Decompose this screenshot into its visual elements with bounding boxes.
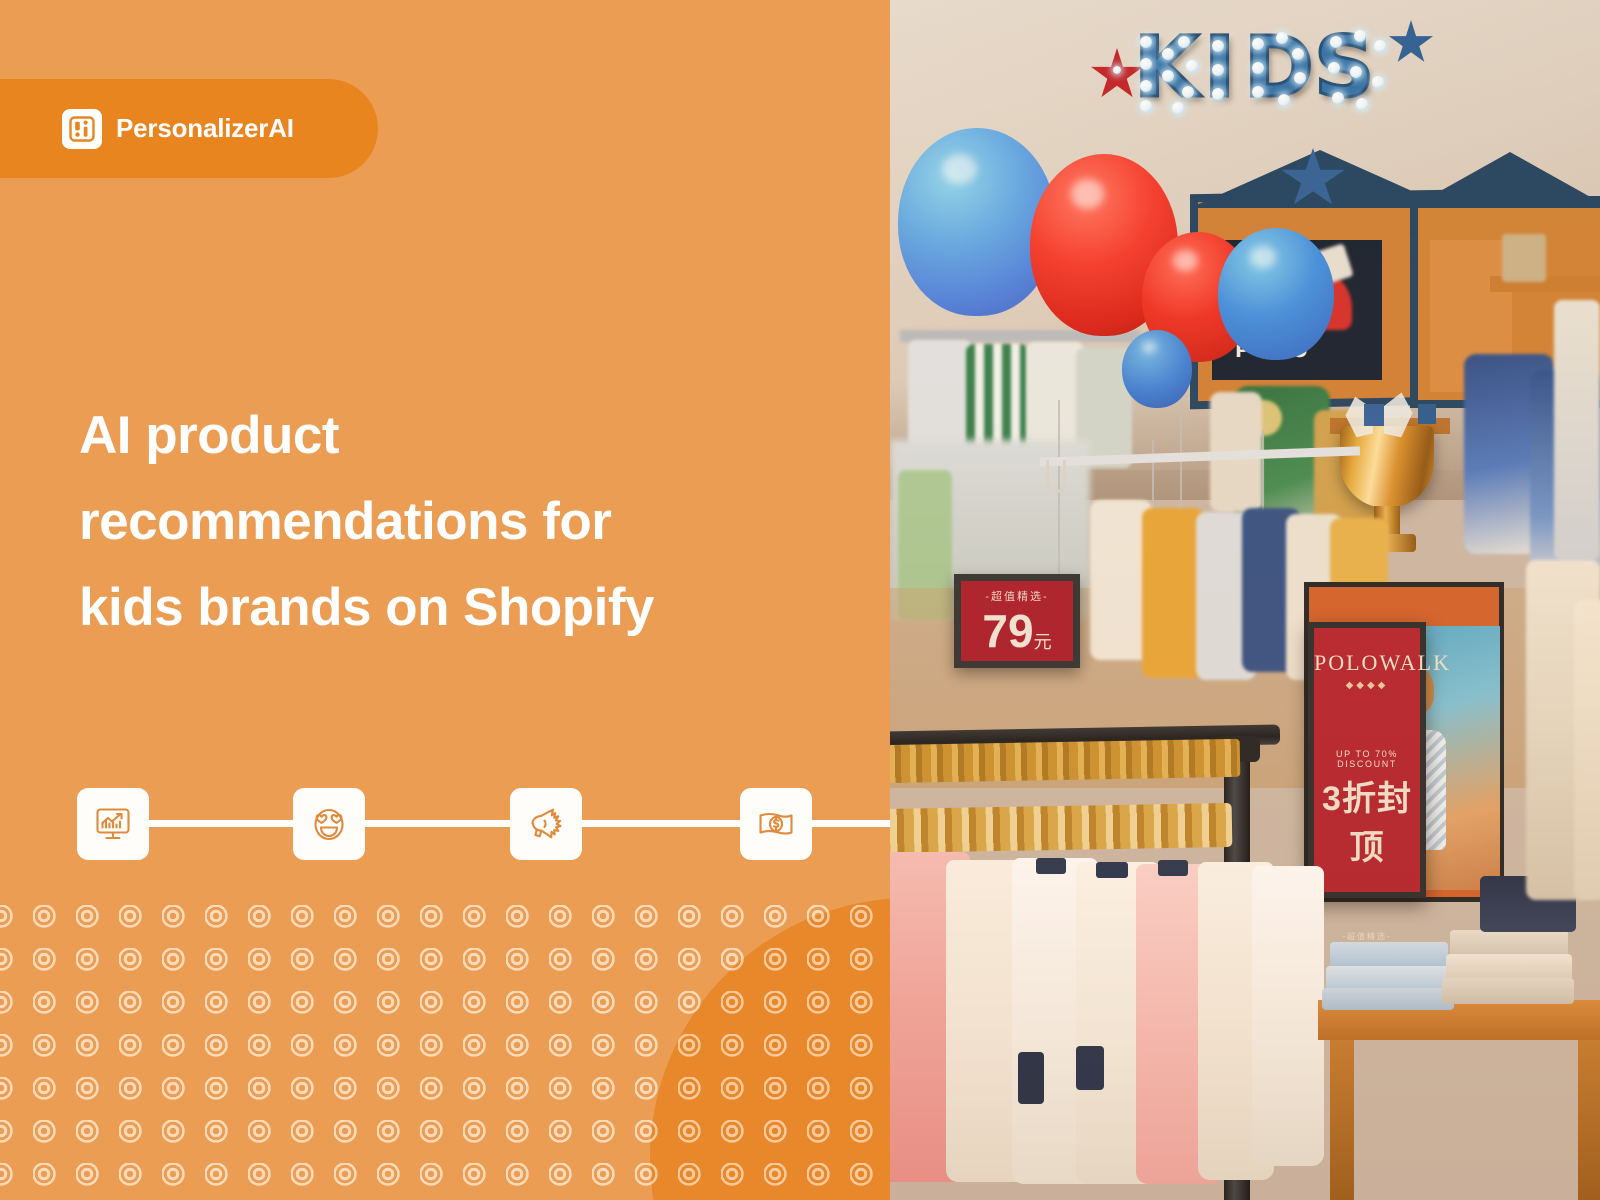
upper-hook-1 bbox=[1046, 460, 1066, 493]
house-roof-right bbox=[1410, 152, 1600, 208]
money-banknote-icon[interactable] bbox=[740, 788, 812, 860]
balloon-blue-small bbox=[1122, 330, 1192, 408]
price-sign-top-text: -超值精选- bbox=[985, 588, 1048, 604]
folded-cream-2 bbox=[1446, 954, 1572, 980]
price-sign-unit: 元 bbox=[1034, 628, 1052, 654]
megaphone-icon[interactable] bbox=[510, 788, 582, 860]
heart-eyes-face-icon[interactable] bbox=[293, 788, 365, 860]
slide-canvas: PersonalizerAI AI product recommendation… bbox=[0, 0, 1600, 1200]
hanger-row-upper bbox=[890, 739, 1240, 783]
kids-marquee-sign: K I D S bbox=[1086, 14, 1416, 124]
analytics-monitor-icon[interactable] bbox=[77, 788, 149, 860]
hem-accent-2 bbox=[1076, 1046, 1104, 1090]
table-leg-right bbox=[1578, 1040, 1600, 1200]
brand-logo-pill[interactable]: PersonalizerAI bbox=[0, 79, 378, 178]
trophy-filler-3 bbox=[1364, 404, 1384, 426]
trophy-filler-4 bbox=[1418, 404, 1436, 424]
folded-blue-2 bbox=[1326, 966, 1452, 990]
hem-accent-1 bbox=[1018, 1052, 1044, 1104]
store-photo: POLO K I D S bbox=[890, 0, 1600, 1200]
balloon-blue-medium bbox=[1218, 228, 1334, 360]
collar-accent-3 bbox=[1158, 860, 1188, 876]
page-title: AI product recommendations for kids bran… bbox=[79, 393, 779, 651]
polowalk-discount-cn: 3折封顶 bbox=[1314, 771, 1420, 869]
feature-icon-strip bbox=[0, 788, 893, 860]
circle-pattern-overlay-decoration bbox=[0, 905, 893, 1200]
polowalk-sign: POLOWALK ◆◆◆◆ UP TO 70% DISCOUNT 3折封顶 -超… bbox=[1308, 622, 1426, 898]
headline-line-1: AI product bbox=[79, 393, 779, 479]
mid-shirt-yellow bbox=[1142, 508, 1204, 678]
folded-blue-3 bbox=[1322, 988, 1454, 1010]
hanger-row-lower bbox=[890, 803, 1232, 853]
right-garment bbox=[1554, 300, 1600, 560]
polowalk-bottom-text: -超值精选- bbox=[1314, 931, 1420, 942]
left-content-panel: PersonalizerAI AI product recommendation… bbox=[0, 0, 893, 1200]
personalizer-glyph-icon bbox=[62, 109, 102, 149]
brand-name-label: PersonalizerAI bbox=[116, 113, 294, 144]
price-sign-amount: 79 bbox=[982, 608, 1033, 654]
table-leg-left bbox=[1330, 1040, 1354, 1200]
price-sign: -超值精选- 79 元 bbox=[954, 574, 1080, 668]
collar-accent-1 bbox=[1036, 858, 1066, 874]
polowalk-dots: ◆◆◆◆ bbox=[1314, 680, 1420, 691]
folded-cream-1 bbox=[1450, 930, 1568, 956]
fg-shirt-white-3 bbox=[1252, 866, 1324, 1166]
right-edge-garment-2 bbox=[1574, 600, 1600, 900]
folded-cream-3 bbox=[1442, 978, 1574, 1004]
headline-line-2: recommendations for bbox=[79, 479, 779, 565]
polowalk-brand-label: POLOWALK bbox=[1314, 650, 1420, 676]
polowalk-discount-en: UP TO 70% DISCOUNT bbox=[1314, 749, 1420, 769]
headline-line-3: kids brands on Shopify bbox=[79, 565, 779, 651]
folded-blue-1 bbox=[1330, 942, 1448, 968]
shelf-box bbox=[1502, 234, 1546, 282]
collar-accent-2 bbox=[1096, 862, 1128, 878]
